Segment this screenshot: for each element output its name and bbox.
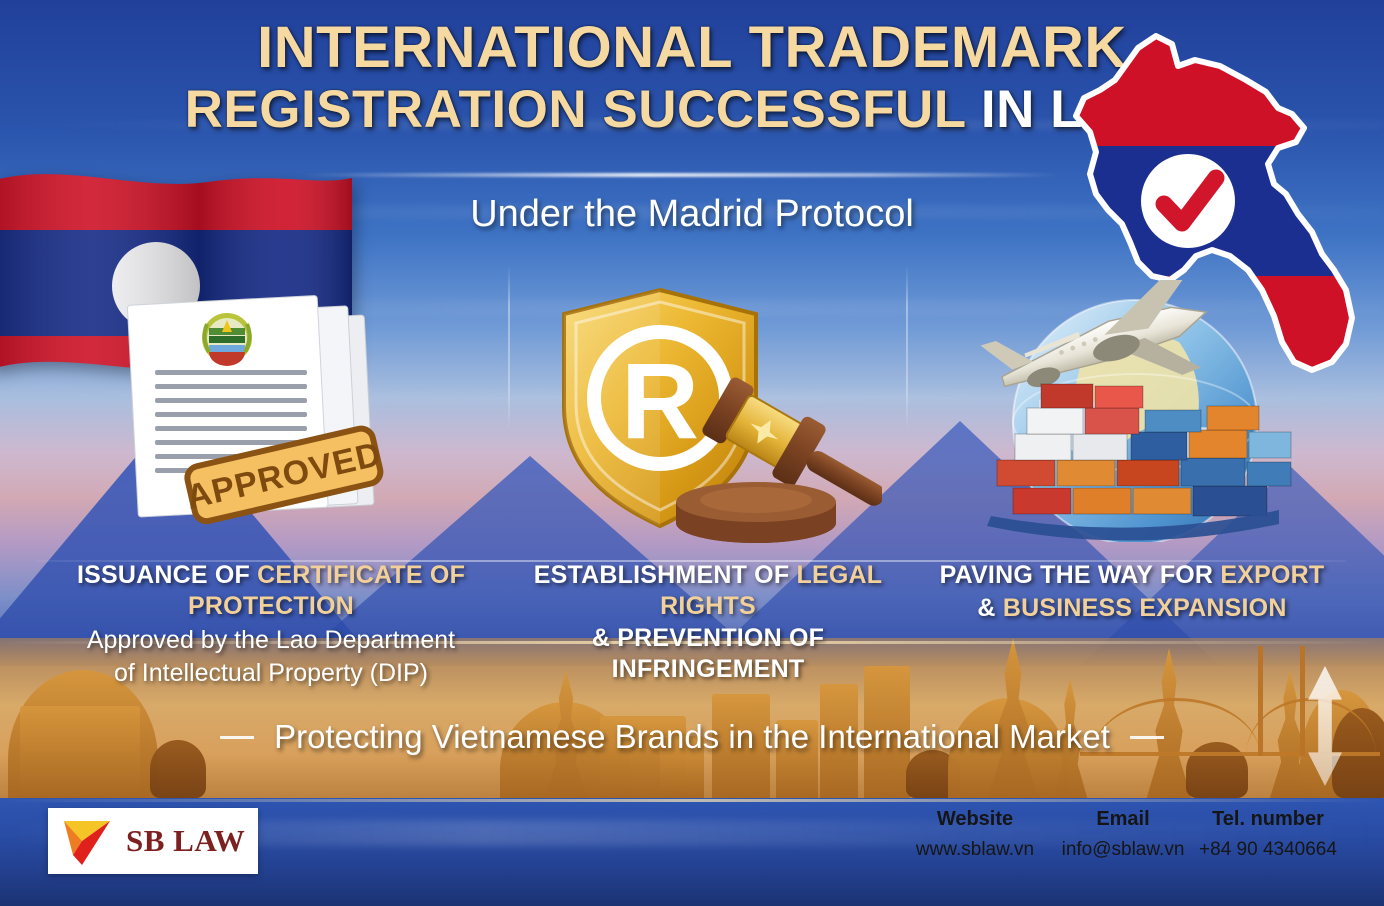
- caption-legal-rights: ESTABLISHMENT OF LEGAL RIGHTS & PREVENTI…: [512, 560, 904, 684]
- certificate-document-approved-icon: APPROVED: [111, 280, 431, 545]
- gavel-base: [676, 482, 836, 543]
- globe-airplane-cargo-icon: [967, 280, 1297, 542]
- tagline-dash-left: [220, 736, 254, 739]
- tagline-row: Protecting Vietnamese Brands in the Inte…: [0, 718, 1384, 756]
- contact-label: Website: [900, 808, 1050, 831]
- shield-registered-gavel-icon: R: [534, 280, 882, 552]
- contact-email[interactable]: Email info@sblaw.vn: [1048, 808, 1198, 861]
- skyline-bottom-rule: [0, 799, 1384, 802]
- caption-head-white: ISSUANCE OF: [77, 561, 250, 589]
- svg-text:R: R: [621, 340, 699, 461]
- title-divider: [300, 173, 1060, 177]
- tagline-text: Protecting Vietnamese Brands in the Inte…: [274, 718, 1110, 756]
- contact-value: info@sblaw.vn: [1048, 839, 1198, 861]
- caption-head-gold-2: BUSINESS EXPANSION: [1003, 594, 1287, 622]
- infographic-poster: INTERNATIONAL TRADEMARK REGISTRATION SUC…: [0, 0, 1384, 906]
- page-title-line2-gold: REGISTRATION SUCCESSFUL: [185, 80, 966, 139]
- column-legal-rights: R ESTABLISHMENT: [512, 270, 904, 690]
- caption-export: PAVING THE WAY FOR EXPORT & BUSINESS EXP…: [912, 560, 1352, 623]
- sblaw-logo[interactable]: SB LAW: [48, 808, 258, 874]
- columns-section: APPROVED ISSUANCE OF CERTIFICATE OF PROT…: [0, 270, 1384, 690]
- contact-website[interactable]: Website www.sblaw.vn: [900, 808, 1050, 861]
- contact-value: +84 90 4340664: [1188, 839, 1348, 861]
- caption-sub-line2: of Intellectual Property (DIP): [36, 658, 506, 689]
- contact-label: Tel. number: [1188, 808, 1348, 831]
- sblaw-logo-text: SB LAW: [126, 823, 245, 859]
- column-export: PAVING THE WAY FOR EXPORT & BUSINESS EXP…: [912, 270, 1352, 690]
- caption-head-gold: EXPORT: [1220, 561, 1324, 589]
- caption-certificate: ISSUANCE OF CERTIFICATE OF PROTECTION Ap…: [36, 560, 506, 690]
- contact-label: Email: [1048, 808, 1198, 831]
- caption-heading-line2: & BUSINESS EXPANSION: [912, 593, 1352, 624]
- caption-heading: ESTABLISHMENT OF LEGAL RIGHTS: [512, 560, 904, 621]
- caption-head-white: ESTABLISHMENT OF: [534, 561, 790, 589]
- footer-contacts: Website www.sblaw.vn Email info@sblaw.vn…: [900, 808, 1340, 878]
- caption-sub-line1: Approved by the Lao Department: [36, 625, 506, 656]
- caption-heading: PAVING THE WAY FOR EXPORT: [912, 560, 1352, 591]
- tagline-dash-right: [1130, 736, 1164, 739]
- caption-heading: ISSUANCE OF CERTIFICATE OF PROTECTION: [36, 560, 506, 621]
- caption-head-white: PAVING THE WAY FOR: [940, 561, 1214, 589]
- contact-phone[interactable]: Tel. number +84 90 4340664: [1188, 808, 1348, 861]
- caption-heading-line2: & PREVENTION OF INFRINGEMENT: [512, 623, 904, 684]
- sblaw-logo-mark-icon: [60, 815, 118, 867]
- caption-ampersand: &: [977, 594, 995, 622]
- column-certificate: APPROVED ISSUANCE OF CERTIFICATE OF PROT…: [36, 270, 506, 690]
- contact-value: www.sblaw.vn: [900, 839, 1050, 861]
